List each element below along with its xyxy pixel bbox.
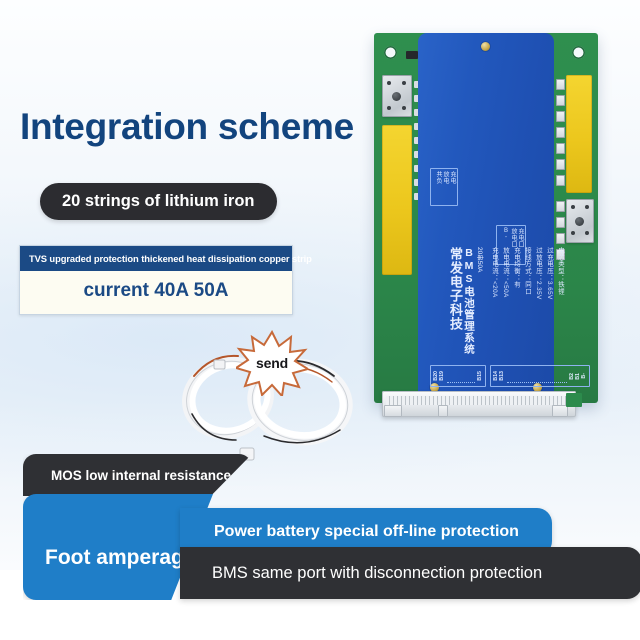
pin-label-b19: B19 (439, 371, 445, 381)
send-starburst: send (236, 330, 308, 396)
pcb-spec-3: 接线方式：同口 (523, 247, 532, 379)
capacitor (556, 159, 565, 170)
pin-label-b13: B13 (499, 371, 505, 381)
mounting-hole-right (572, 46, 585, 59)
bms-pcb-board: 充电 放电 共负 充电口 放电口 B- 常发电子科技 BMS电池管理系统 20串… (374, 33, 598, 415)
silk-box-left-line-1: 放电 (442, 171, 448, 203)
pcb-cover-plate: 充电 放电 共负 充电口 放电口 B- 常发电子科技 BMS电池管理系统 20串… (418, 33, 554, 403)
pin-label-b15: B15 (477, 371, 483, 381)
pcb-spec-5: 放电电流：<50A (501, 247, 510, 379)
connector-pins (386, 396, 572, 405)
silk-box-left: 充电 放电 共负 (430, 168, 458, 206)
tvs-card-header: TVS upgraded protection thickened heat d… (20, 246, 292, 271)
mounting-hole-left (384, 46, 397, 59)
tvs-card: TVS upgraded protection thickened heat d… (19, 245, 293, 315)
capacitor (556, 143, 565, 154)
page-title: Integration scheme (20, 106, 354, 148)
silk-box-left-line-2: 共负 (435, 171, 441, 203)
send-label: send (236, 330, 308, 396)
pin-header-labels: B20 B19 B15 B14 B13 B2 B1 B- (430, 365, 596, 387)
smd-chip (406, 51, 418, 59)
pcb-spec-0: 电芯类型：铁锂 (556, 247, 565, 379)
pcb-spec-4: 充电均衡：有 (512, 247, 521, 379)
tvs-card-current: current 40A 50A (20, 271, 292, 314)
pcb-spec-6: 充电电流：<20A (490, 247, 499, 379)
pin-group-2: B14 B13 B2 B1 B- (490, 365, 590, 387)
product-marketing-image: Integration scheme 20 strings of lithium… (0, 0, 640, 640)
kapton-tape-left (382, 125, 412, 275)
capacitor (556, 201, 565, 212)
pcb-spec-list: 电芯类型：铁锂 过充电压：3.65V 过放电压：2.35V 接线方式：同口 充电… (490, 247, 565, 379)
kapton-tape-right (566, 75, 592, 193)
capacitor (556, 175, 565, 186)
pcb-model-text: 20串50A (476, 247, 486, 272)
pin-label-bminus: B- (581, 373, 587, 379)
capacitor (556, 217, 565, 228)
pcb-spec-1: 过充电压：3.65V (545, 247, 554, 379)
pcb-system-text: BMS电池管理系统 (462, 247, 477, 355)
connector-green-tab (566, 393, 582, 407)
pcb-spec-2: 过放电压：2.35V (534, 247, 543, 379)
capacitor (556, 111, 565, 122)
screw (481, 42, 490, 51)
silk-box-left-line-0: 充电 (449, 171, 455, 203)
capacitor (556, 233, 565, 244)
capacitor (556, 95, 565, 106)
capacitor (556, 79, 565, 90)
terminal-pad-left (382, 75, 412, 117)
terminal-pad-right (566, 199, 594, 243)
pin-group-1: B20 B19 B15 (430, 365, 486, 387)
banner-bms-disconnection: BMS same port with disconnection protect… (180, 547, 640, 599)
capacitor (556, 127, 565, 138)
wire-connector-header (382, 391, 576, 417)
strings-badge: 20 strings of lithium iron (40, 183, 277, 220)
